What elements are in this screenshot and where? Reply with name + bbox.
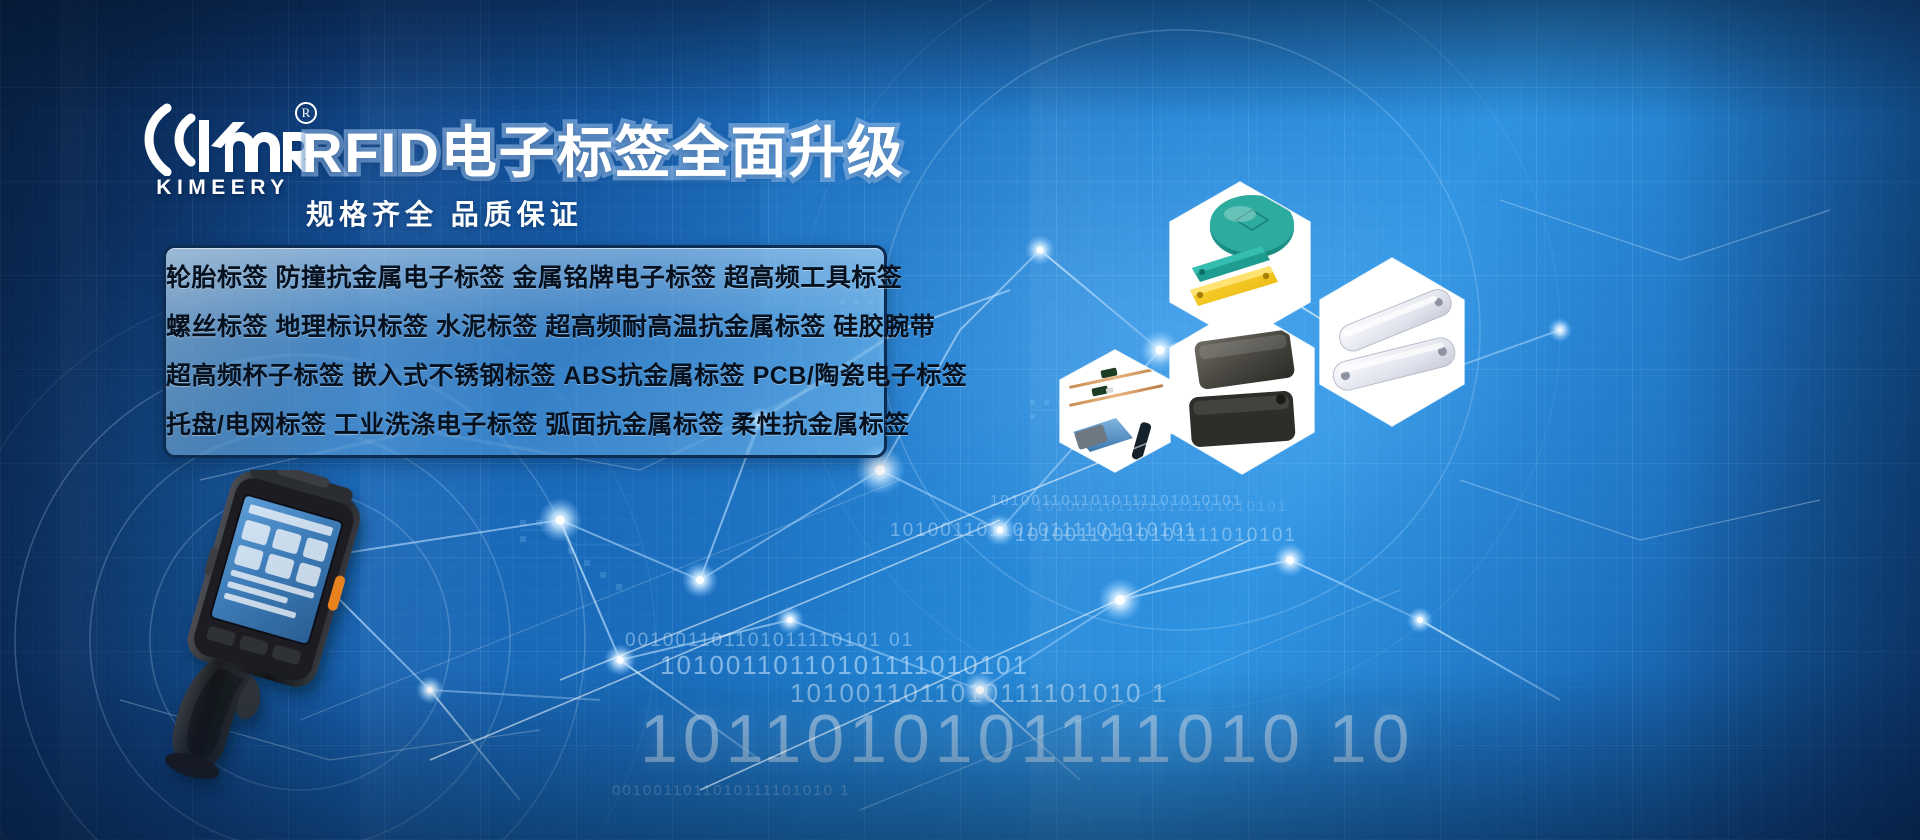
product-list-panel: 轮胎标签 防撞抗金属电子标签 金属铭牌电子标签 超高频工具标签 螺丝标签 地理标…	[163, 245, 887, 458]
brand-name: KIMEERY	[135, 176, 311, 200]
product-row-2: 螺丝标签 地理标识标签 水泥标签 超高频耐高温抗金属标签 硅胶腕带	[166, 303, 884, 352]
page-title: RFID电子标签全面升级	[302, 108, 905, 189]
product-row-4: 托盘/电网标签 工业洗涤电子标签 弧面抗金属标签 柔性抗金属标签	[166, 401, 884, 450]
kmr-waves-icon	[133, 98, 313, 176]
kimeery-logo: R KIMEERY	[133, 98, 313, 206]
product-row-1: 轮胎标签 防撞抗金属电子标签 金属铭牌电子标签 超高频工具标签	[166, 254, 884, 303]
product-row-3: 超高频杯子标签 嵌入式不锈钢标签 ABS抗金属标签 PCB/陶瓷电子标签	[166, 352, 884, 401]
handheld-rfid-reader	[150, 470, 420, 800]
banner-stage: 1011010101111010 10 10100110110101111010…	[0, 0, 1920, 840]
banner-subtitle: 规格齐全 品质保证	[306, 193, 583, 233]
